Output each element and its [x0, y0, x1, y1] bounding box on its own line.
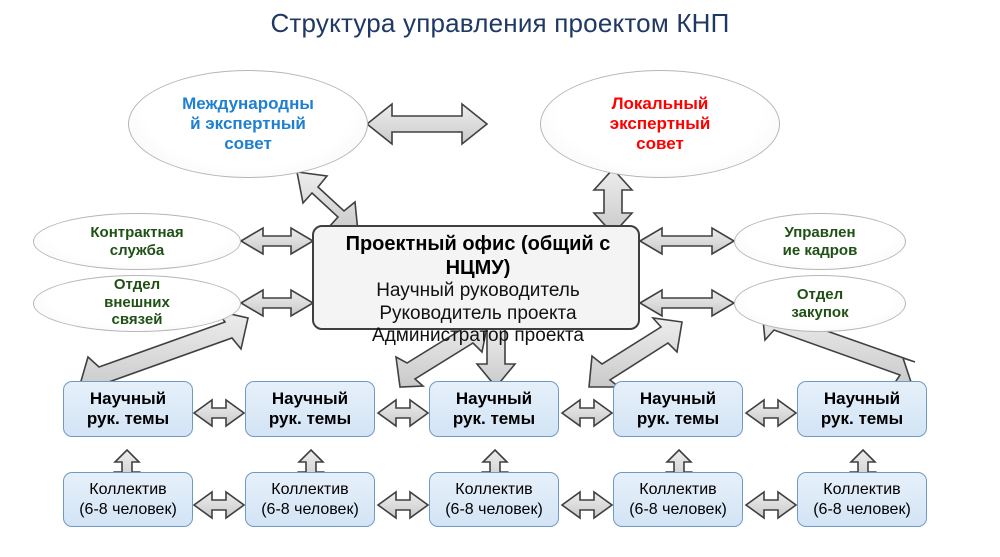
- project-office-box[interactable]: Проектный офис (общий с НЦМУ) Научный ру…: [312, 225, 640, 330]
- local-council-line-3: совет: [610, 134, 711, 154]
- topic-leader-box-1[interactable]: Научный рук. темы: [63, 381, 193, 437]
- arrow-topic-3-to-topic-4: [562, 400, 612, 426]
- topic-leader-2-line-2: рук. темы: [269, 409, 351, 429]
- topic-leader-3-line-1: Научный: [453, 389, 535, 409]
- topic-leader-box-4[interactable]: Научный рук. темы: [613, 381, 743, 437]
- unit-contract-service[interactable]: Контрактная служба: [33, 213, 241, 270]
- procurement-line-2: закупок: [791, 304, 848, 322]
- team-1-line-1: Коллектив: [79, 480, 177, 499]
- team-4-line-2: (6-8 человек): [629, 500, 727, 519]
- arrow-contract-service-to-office: [241, 228, 313, 254]
- arrow-topic-4-to-topic-5: [746, 400, 796, 426]
- unit-procurement[interactable]: Отдел закупок: [734, 275, 906, 332]
- topic-leader-4-line-2: рук. темы: [637, 409, 719, 429]
- local-expert-council[interactable]: Локальный экспертный совет: [540, 70, 780, 178]
- team-1-line-2: (6-8 человек): [79, 500, 177, 519]
- arrow-intl-council-to-office: [297, 172, 358, 232]
- team-5-line-1: Коллектив: [813, 480, 911, 499]
- contract-service-line-1: Контрактная: [90, 224, 183, 242]
- topic-leader-3-line-2: рук. темы: [453, 409, 535, 429]
- arrow-office-to-hr: [640, 228, 734, 254]
- team-box-3[interactable]: Коллектив (6-8 человек): [429, 472, 559, 527]
- topic-leader-box-5[interactable]: Научный рук. темы: [797, 381, 927, 437]
- project-office-content: Проектный офис (общий с НЦМУ) Научный ру…: [314, 233, 642, 347]
- external-relations-line-2: внешних: [104, 294, 170, 312]
- team-box-2[interactable]: Коллектив (6-8 человек): [245, 472, 375, 527]
- topic-leader-5-line-1: Научный: [821, 389, 903, 409]
- arrow-topic-2-to-topic-3: [378, 400, 428, 426]
- arrow-office-to-procurement: [640, 290, 734, 316]
- team-box-1[interactable]: Коллектив (6-8 человек): [63, 472, 193, 527]
- topic-leader-2-line-1: Научный: [269, 389, 351, 409]
- topic-leader-5-line-2: рук. темы: [821, 409, 903, 429]
- team-5-line-2: (6-8 человек): [813, 500, 911, 519]
- intl-council-line-3: совет: [182, 134, 314, 154]
- team-box-4[interactable]: Коллектив (6-8 человек): [613, 472, 743, 527]
- project-office-role-project-manager: Руководитель проекта: [314, 303, 642, 325]
- external-relations-line-1: Отдел: [104, 276, 170, 294]
- arrow-team-3-to-team-4: [562, 492, 612, 518]
- team-4-line-1: Коллектив: [629, 480, 727, 499]
- project-office-heading-line-1: Проектный офис (общий с: [314, 233, 642, 257]
- procurement-line-1: Отдел: [791, 286, 848, 304]
- international-expert-council[interactable]: Международны й экспертный совет: [128, 70, 368, 178]
- contract-service-line-2: служба: [90, 242, 183, 260]
- arrow-topic-1-to-topic-2: [194, 400, 244, 426]
- team-2-line-2: (6-8 человек): [261, 500, 359, 519]
- topic-leader-box-2[interactable]: Научный рук. темы: [245, 381, 375, 437]
- project-office-role-scientific-head: Научный руководитель: [314, 280, 642, 302]
- diagram-canvas: Структура управления проектом КНП: [0, 0, 1000, 557]
- arrow-external-relations-to-office: [241, 290, 313, 316]
- topic-leader-1-line-1: Научный: [87, 389, 169, 409]
- team-3-line-1: Коллектив: [445, 480, 543, 499]
- hr-management-line-2: ие кадров: [783, 242, 858, 260]
- topic-leader-box-3[interactable]: Научный рук. темы: [429, 381, 559, 437]
- team-2-line-1: Коллектив: [261, 480, 359, 499]
- local-council-line-1: Локальный: [610, 94, 711, 114]
- arrow-team-4-to-team-5: [746, 492, 796, 518]
- topic-leader-1-line-2: рук. темы: [87, 409, 169, 429]
- topic-leader-4-line-1: Научный: [637, 389, 719, 409]
- unit-hr-management[interactable]: Управлен ие кадров: [734, 213, 906, 270]
- arrow-team-2-to-team-3: [378, 492, 428, 518]
- arrow-team-1-to-team-2: [194, 492, 244, 518]
- local-council-line-2: экспертный: [610, 114, 711, 134]
- intl-council-line-1: Международны: [182, 94, 314, 114]
- project-office-heading-line-2: НЦМУ): [314, 257, 642, 281]
- hr-management-line-1: Управлен: [783, 224, 858, 242]
- project-office-role-administrator: Администратор проекта: [314, 325, 642, 347]
- intl-council-line-2: й экспертный: [182, 114, 314, 134]
- arrow-council-to-council: [367, 104, 487, 144]
- team-box-5[interactable]: Коллектив (6-8 человек): [797, 472, 927, 527]
- team-3-line-2: (6-8 человек): [445, 500, 543, 519]
- external-relations-line-3: связей: [104, 311, 170, 329]
- unit-external-relations[interactable]: Отдел внешних связей: [33, 275, 241, 332]
